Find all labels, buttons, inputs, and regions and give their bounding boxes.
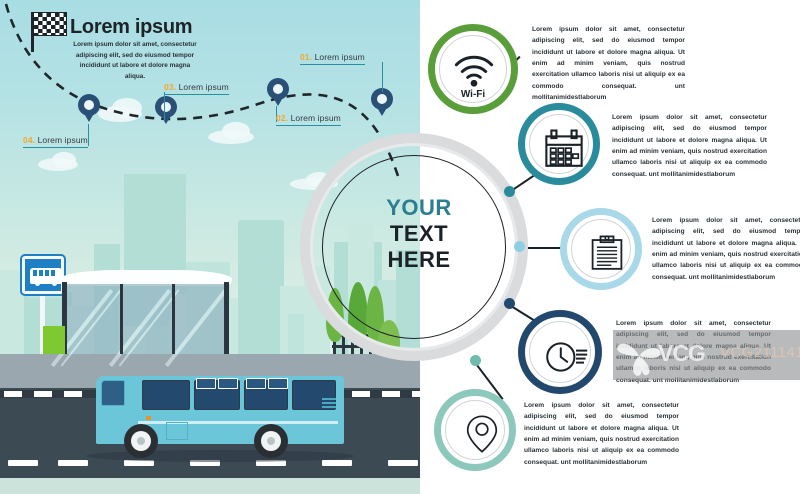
route-label-04: 04. Lorem ipsum [23,135,88,148]
bus-window [142,380,190,410]
bus-vent-window [218,378,238,389]
shelter-post-right [224,282,229,354]
route-label-01-number: 01. [300,52,312,62]
icon-circle-clock[interactable] [518,310,602,394]
clipboard-icon [589,229,625,277]
bus-shelter-glass [66,284,226,354]
route-label-02-number: 02. [276,113,288,123]
bus-wheel [124,424,158,458]
page-title: Lorem ipsum [70,16,192,39]
hub-line-1: YOUR [344,195,494,221]
circular-infographic-panel: YOUR TEXT HERE Wi-Fi Lorem ipsum dolor s… [420,0,800,494]
leader-04 [88,124,89,146]
icon-circle-pin[interactable] [434,389,516,471]
route-label-01-text: Lorem ipsum [315,52,365,62]
infographic-canvas: Lorem ipsum Lorem ipsum dolor sit amet, … [0,0,800,494]
route-label-02-text: Lorem ipsum [291,113,341,123]
bottom-strip [0,478,420,494]
clock-icon [541,337,591,377]
route-label-04-text: Lorem ipsum [38,135,88,145]
item-text-pin: Lorem ipsum dolor sit amet, consectetur … [524,400,679,468]
leader-01 [382,62,383,92]
checkered-flag-icon [33,12,67,36]
shelter-mullion-1 [120,284,123,354]
node-clock[interactable] [504,298,515,309]
center-hub: YOUR TEXT HERE [300,133,528,361]
bus-wheel [254,424,288,458]
bus-vent-window [196,378,216,389]
wifi-icon [453,48,495,90]
route-label-03-text: Lorem ipsum [179,82,229,92]
bus-sign-icon [22,256,64,294]
bus [96,372,344,458]
bus-vent-window [268,378,288,389]
bus-door [166,422,188,440]
bus-blinker [146,416,151,420]
trash-bin [43,326,65,354]
hub-line-3: HERE [344,247,494,273]
bus-windshield [101,380,125,406]
watermark-logo: VCG [658,340,705,367]
watermark-code: VCG211141055620 [720,344,800,361]
leader-03 [164,92,165,122]
route-label-01: 01. Lorem ipsum [300,52,365,65]
icon-circle-wifi[interactable]: Wi-Fi [428,24,518,114]
route-label-03: 03. Lorem ipsum [164,82,229,95]
route-label-04-number: 04. [23,135,35,145]
icon-circle-clipboard[interactable] [560,208,642,290]
wifi-label: Wi-Fi [435,89,511,100]
node-pin[interactable] [470,355,481,366]
page-subtitle: Lorem ipsum dolor sit amet, consectetur … [70,40,200,82]
item-text-calendar: Lorem ipsum dolor sit amet, consectetur … [612,112,767,180]
calendar-icon [543,126,585,172]
route-label-03-number: 03. [164,82,176,92]
node-clipboard[interactable] [514,241,525,252]
hub-line-2: TEXT [344,221,494,247]
item-text-wifi: Lorem ipsum dolor sit amet, consectetur … [532,24,685,103]
watermark-fan-icon [616,336,662,376]
node-calendar[interactable] [504,186,515,197]
shelter-mullion-2 [172,284,175,354]
icon-circle-calendar[interactable] [518,103,600,185]
route-label-02: 02. Lorem ipsum [276,113,341,126]
map-pin-icon [465,409,499,459]
bus-vent-window [246,378,266,389]
item-text-clipboard: Lorem ipsum dolor sit amet, consectetur … [652,215,800,283]
